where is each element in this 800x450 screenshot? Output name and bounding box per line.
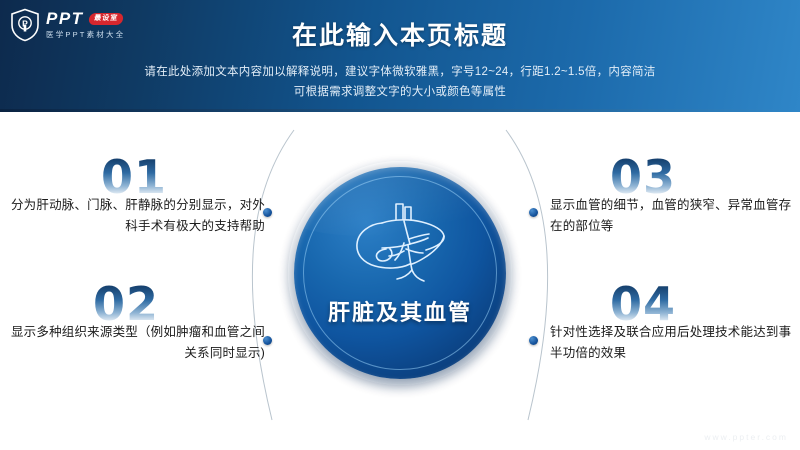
info-block-01: 01 分为肝动脉、门脉、肝静脉的分别显示，对外科手术有极大的支持帮助 xyxy=(0,157,265,237)
connector-dot-03 xyxy=(529,208,538,217)
subtitle-line-2: 可根据需求调整文字的大小或颜色等属性 xyxy=(0,82,800,102)
info-block-04-text: 针对性选择及联合应用后处理技术能达到事半功倍的效果 xyxy=(550,322,800,364)
slide-header: P PPT 最设室 医学PPT素材大全 在此输入本页标题 请在此处添加文本内容加… xyxy=(0,0,800,112)
info-block-03: 03 显示血管的细节，血管的狭窄、异常血管存在的部位等 xyxy=(550,157,800,237)
info-block-04: 04 针对性选择及联合应用后处理技术能达到事半功倍的效果 xyxy=(550,284,800,364)
info-block-01-text: 分为肝动脉、门脉、肝静脉的分别显示，对外科手术有极大的支持帮助 xyxy=(0,195,265,237)
liver-icon xyxy=(348,199,452,287)
info-block-03-number: 03 xyxy=(610,157,800,197)
info-block-02-number: 02 xyxy=(0,284,159,324)
info-block-01-number: 01 xyxy=(0,157,167,197)
watermark: www.ppter.com xyxy=(704,432,788,442)
info-block-03-text: 显示血管的细节，血管的狭窄、异常血管存在的部位等 xyxy=(550,195,800,237)
connector-dot-04 xyxy=(529,336,538,345)
info-block-02-text: 显示多种组织来源类型（例如肿瘤和血管之间关系同时显示) xyxy=(0,322,265,364)
info-block-04-number: 04 xyxy=(610,284,800,324)
slide-canvas: P PPT 最设室 医学PPT素材大全 在此输入本页标题 请在此处添加文本内容加… xyxy=(0,0,800,450)
info-block-02: 02 显示多种组织来源类型（例如肿瘤和血管之间关系同时显示) xyxy=(0,284,265,364)
center-label: 肝脏及其血管 xyxy=(294,295,506,327)
page-title: 在此输入本页标题 xyxy=(0,16,800,52)
center-badge[interactable]: 肝脏及其血管 xyxy=(288,161,512,385)
page-subtitle: 请在此处添加文本内容加以解释说明，建议字体微软雅黑，字号12~24，行距1.2~… xyxy=(0,62,800,102)
slide-body: 肝脏及其血管 01 分为肝动脉、门脉、肝静脉的分别显示，对外科手术有极大的支持帮… xyxy=(0,112,800,450)
subtitle-line-1: 请在此处添加文本内容加以解释说明，建议字体微软雅黑，字号12~24，行距1.2~… xyxy=(0,62,800,82)
center-circle: 肝脏及其血管 xyxy=(294,167,506,379)
